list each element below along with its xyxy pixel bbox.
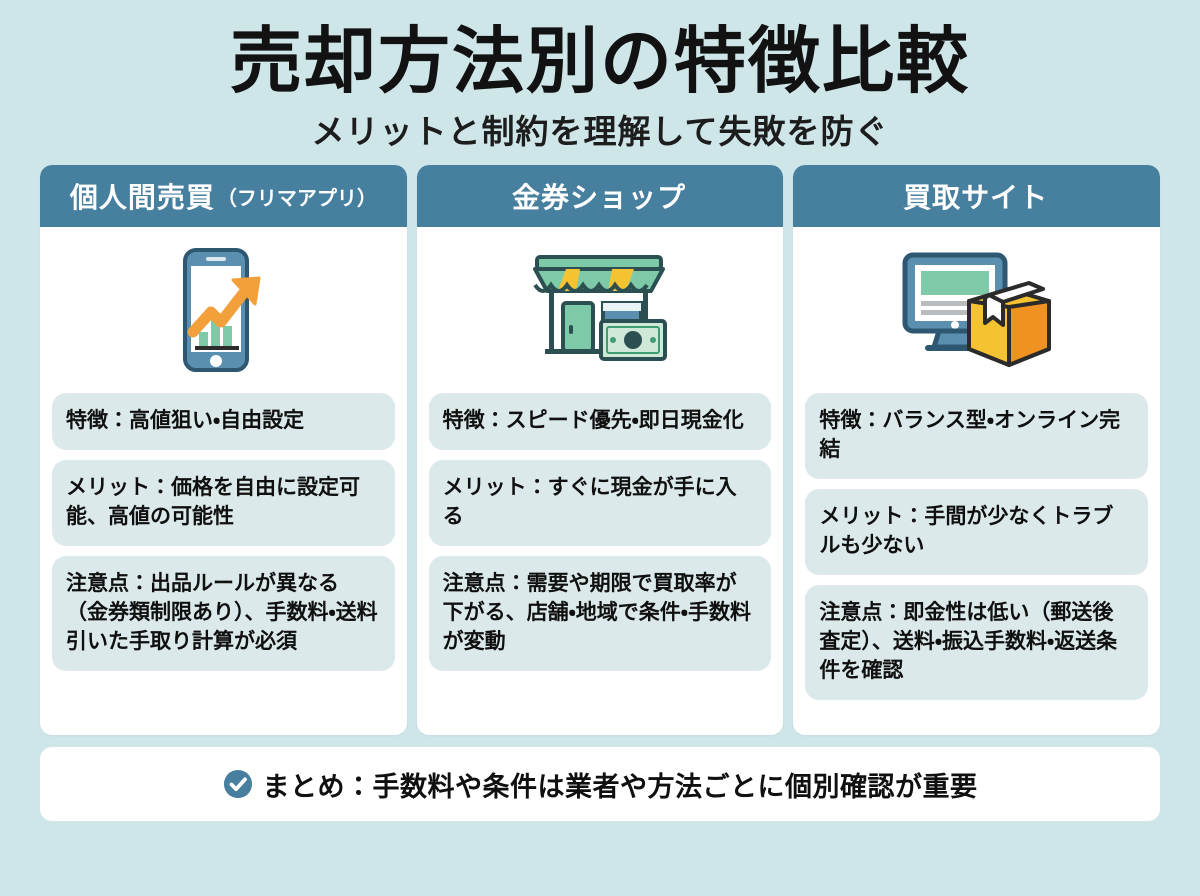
comparison-columns: 個人間売買（フリマアプリ） 特徴：高値狙い・自由設定 メ — [40, 165, 1160, 735]
icon-area-buyback-site — [793, 227, 1160, 393]
column-ticket-shop: 金券ショップ — [417, 165, 784, 735]
rows-personal-sale: 特徴：高値狙い・自由設定 メリット：価格を自由に設定可能、高値の可能性 注意点：… — [40, 393, 407, 685]
row-caution: 注意点：即金性は低い（郵送後査定）、送料・振込手数料・返送条件を確認 — [805, 585, 1148, 700]
row-caution: 注意点：需要や期限で買取率が下がる、店舗・地域で条件・手数料が変動 — [429, 556, 772, 671]
column-subtitle: （フリマアプリ） — [217, 182, 377, 211]
row-merit: メリット：すぐに現金が手に入る — [429, 460, 772, 546]
column-header-ticket-shop: 金券ショップ — [417, 165, 784, 227]
column-buyback-site: 買取サイト — [793, 165, 1160, 735]
summary-text: まとめ：手数料や条件は業者や方法ごとに個別確認が重要 — [263, 765, 978, 804]
column-header-personal-sale: 個人間売買（フリマアプリ） — [40, 165, 407, 227]
row-caution: 注意点：出品ルールが異なる（金券類制限あり）、手数料・送料引いた手取り計算が必須 — [52, 556, 395, 671]
row-merit: メリット：価格を自由に設定可能、高値の可能性 — [52, 460, 395, 546]
column-title: 個人間売買 — [70, 176, 215, 216]
storefront-cash-icon — [525, 245, 675, 375]
row-feature: 特徴：スピード優先・即日現金化 — [429, 393, 772, 450]
column-title: 買取サイト — [903, 176, 1048, 216]
icon-area-ticket-shop — [417, 227, 784, 393]
icon-area-personal-sale — [40, 227, 407, 393]
row-feature: 特徴：高値狙い・自由設定 — [52, 393, 395, 450]
row-merit: メリット：手間が少なくトラブルも少ない — [805, 489, 1148, 575]
check-circle-icon — [223, 769, 253, 799]
page-title: 売却方法別の特徴比較 — [40, 24, 1160, 102]
smartphone-growth-chart-icon — [163, 240, 283, 380]
title-block: 売却方法別の特徴比較 メリットと制約を理解して失敗を防ぐ — [40, 24, 1160, 151]
column-header-buyback-site: 買取サイト — [793, 165, 1160, 227]
infographic-page: 売却方法別の特徴比較 メリットと制約を理解して失敗を防ぐ 個人間売買（フリマアプ… — [0, 0, 1200, 896]
rows-ticket-shop: 特徴：スピード優先・即日現金化 メリット：すぐに現金が手に入る 注意点：需要や期… — [417, 393, 784, 685]
monitor-parcel-icon — [897, 245, 1057, 375]
column-title: 金券ショップ — [512, 176, 686, 216]
row-feature: 特徴：バランス型・オンライン完結 — [805, 393, 1148, 479]
column-personal-sale: 個人間売買（フリマアプリ） 特徴：高値狙い・自由設定 メ — [40, 165, 407, 735]
summary-footer: まとめ：手数料や条件は業者や方法ごとに個別確認が重要 — [40, 747, 1160, 821]
page-subtitle: メリットと制約を理解して失敗を防ぐ — [40, 112, 1160, 152]
rows-buyback-site: 特徴：バランス型・オンライン完結 メリット：手間が少なくトラブルも少ない 注意点… — [793, 393, 1160, 714]
